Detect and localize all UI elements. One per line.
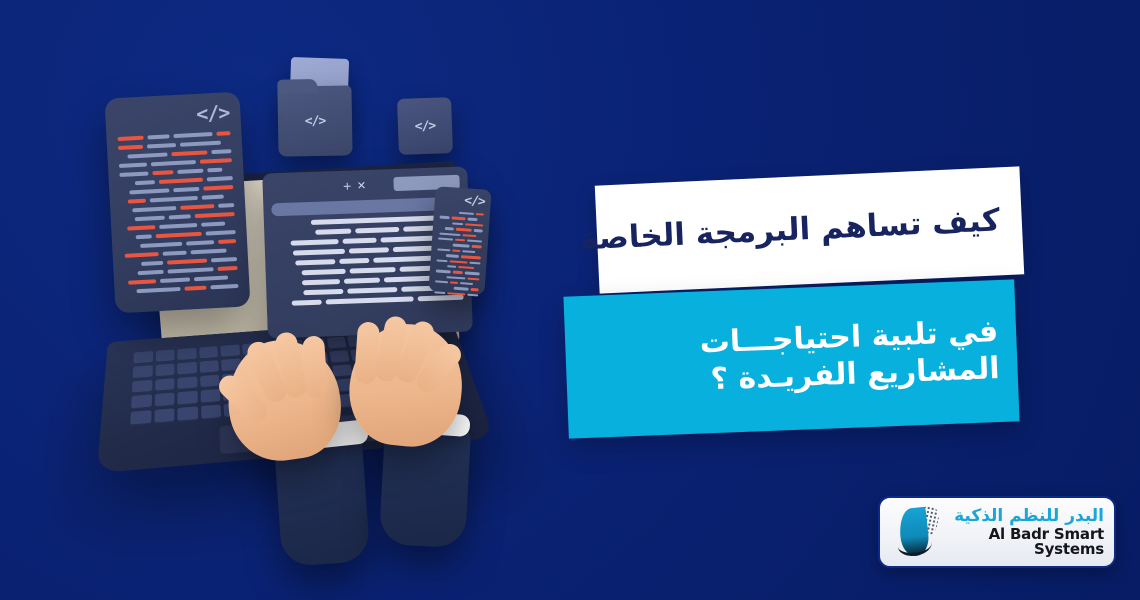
code-line <box>124 257 237 266</box>
code-segment <box>171 150 207 155</box>
key <box>199 346 218 359</box>
code-segment <box>439 232 460 236</box>
code-segment <box>449 260 467 264</box>
code-segment <box>128 199 146 203</box>
brand-logo[interactable]: البدر للنظم الذكية Al Badr Smart Systems <box>878 496 1116 568</box>
mini-code-card: </> <box>428 186 491 295</box>
code-segment <box>135 180 155 185</box>
brand-name-english: Al Badr Smart Systems <box>940 527 1104 557</box>
code-segment <box>169 214 191 219</box>
code-segment <box>460 282 473 285</box>
code-segment <box>129 188 169 194</box>
code-line <box>438 243 482 248</box>
code-tag-glyph: </> <box>116 102 230 128</box>
key <box>155 378 175 392</box>
code-segment <box>468 218 478 221</box>
code-segment <box>447 265 456 268</box>
code-line <box>125 275 238 284</box>
code-segment <box>159 223 197 228</box>
code-segment <box>453 244 470 248</box>
content-bar <box>418 295 464 302</box>
key <box>220 345 239 358</box>
close-icon[interactable]: ✕ <box>357 179 372 192</box>
code-line <box>121 194 234 203</box>
key <box>177 376 197 390</box>
finger <box>302 335 328 398</box>
code-tag-glyph: </> <box>440 193 485 209</box>
code-segment <box>206 230 236 235</box>
code-segment <box>119 171 148 176</box>
code-line <box>119 158 232 167</box>
code-segment <box>459 212 474 215</box>
key <box>155 363 174 377</box>
key <box>155 349 174 362</box>
content-bar <box>293 249 345 256</box>
code-segment <box>147 134 169 139</box>
code-line <box>119 167 232 176</box>
code-segment <box>160 277 190 282</box>
code-segment <box>471 288 479 291</box>
code-segment <box>461 255 481 259</box>
key <box>133 351 152 364</box>
key <box>199 360 219 374</box>
code-segment <box>150 196 198 202</box>
headline-line-1: كيف تساهم البرمجة الخاصة <box>579 204 1000 259</box>
content-bar <box>303 289 343 295</box>
content-bar <box>315 229 351 235</box>
code-segment <box>450 281 458 284</box>
content-bar <box>343 238 377 244</box>
code-line <box>122 212 235 221</box>
code-line <box>436 270 480 275</box>
code-line <box>125 266 238 275</box>
code-line <box>438 237 482 242</box>
key <box>177 362 196 376</box>
code-segment <box>173 132 213 138</box>
code-line <box>439 216 483 221</box>
key <box>154 393 174 408</box>
code-segment <box>453 249 460 252</box>
key <box>130 410 151 425</box>
code-segment <box>203 185 233 190</box>
code-segment <box>180 141 221 147</box>
code-segment <box>439 216 449 219</box>
code-badge-icon: </> <box>397 97 453 155</box>
code-segment <box>458 266 474 270</box>
code-segment <box>135 216 165 221</box>
content-bar <box>344 278 380 284</box>
code-segment <box>453 271 463 274</box>
brand-name-arabic: البدر للنظم الذكية <box>954 508 1104 525</box>
code-segment <box>217 266 237 271</box>
code-segment <box>132 206 176 212</box>
code-segment <box>177 169 203 174</box>
code-segment <box>211 149 231 154</box>
code-segment <box>437 248 451 251</box>
banner-canvas: </> </> </> ✕+ </> <box>0 0 1140 600</box>
code-segment <box>452 222 463 225</box>
code-segment <box>467 277 479 280</box>
code-segment <box>201 222 225 227</box>
code-line <box>440 211 484 216</box>
key <box>177 391 197 406</box>
content-bar <box>291 239 339 246</box>
search-input[interactable] <box>271 197 460 217</box>
code-line <box>120 185 233 194</box>
key <box>177 407 197 422</box>
code-segment <box>454 287 469 290</box>
code-segment <box>180 204 214 209</box>
code-segment <box>455 239 465 242</box>
emblem-calligraphy <box>898 533 932 556</box>
code-segment <box>153 170 174 175</box>
key <box>200 374 220 388</box>
code-segment <box>125 252 159 257</box>
code-segment <box>191 248 227 253</box>
code-snippet-card: </> <box>104 92 250 314</box>
key <box>329 350 350 363</box>
content-bar <box>339 258 369 264</box>
content-bar <box>349 247 389 253</box>
code-segment <box>127 152 167 158</box>
code-segment <box>118 136 144 141</box>
code-segment <box>167 259 207 265</box>
code-line <box>437 248 481 253</box>
code-line <box>121 203 234 212</box>
code-segment <box>217 131 231 135</box>
code-segment <box>474 229 483 232</box>
code-segment <box>127 225 155 230</box>
code-segment <box>140 242 182 248</box>
code-segment <box>462 234 476 237</box>
code-segment <box>476 213 484 216</box>
code-segment <box>119 163 147 168</box>
code-line <box>120 176 233 185</box>
code-line <box>123 230 236 239</box>
code-segment <box>210 284 238 289</box>
code-folder-icon: </> <box>277 85 352 156</box>
key <box>200 389 220 404</box>
key <box>133 365 153 379</box>
code-segment <box>184 286 206 291</box>
code-tag-glyph: </> <box>305 114 326 127</box>
content-bar <box>350 267 396 274</box>
code-segment <box>186 240 214 245</box>
code-segment <box>195 212 235 218</box>
key <box>177 348 196 361</box>
code-line <box>439 221 483 226</box>
code-line <box>436 264 480 269</box>
code-segment <box>436 259 447 262</box>
code-segment <box>435 280 448 283</box>
code-line <box>438 232 482 237</box>
code-segment <box>200 158 232 163</box>
code-segment <box>156 232 202 238</box>
code-segment <box>465 272 480 275</box>
code-segment <box>469 261 480 264</box>
key <box>154 408 174 423</box>
code-segment <box>128 279 156 284</box>
code-segment <box>167 267 213 273</box>
headline-band-secondary: في تلبية احتياجـــات المشاريع الفريـدة ؟ <box>563 279 1019 438</box>
code-segment <box>218 203 234 207</box>
code-segment <box>436 270 451 273</box>
key <box>132 380 152 394</box>
code-segment <box>173 187 199 192</box>
code-lines <box>117 131 238 293</box>
code-segment <box>467 239 482 242</box>
code-line <box>118 140 231 149</box>
code-segment <box>136 234 152 238</box>
code-line <box>435 280 479 285</box>
code-line <box>123 239 236 248</box>
code-line <box>439 227 483 232</box>
code-segment <box>207 168 223 172</box>
code-line <box>435 275 479 280</box>
brand-emblem-icon <box>894 504 940 560</box>
brand-logo-text: البدر للنظم الذكية Al Badr Smart Systems <box>940 508 1104 557</box>
content-bar <box>302 269 346 276</box>
code-segment <box>446 254 459 257</box>
code-line <box>117 131 230 140</box>
code-line <box>435 286 479 291</box>
code-segment <box>194 275 228 280</box>
headline-band-primary: كيف تساهم البرمجة الخاصة <box>595 166 1024 293</box>
code-tag-glyph: </> <box>415 119 436 133</box>
code-segment <box>465 223 483 227</box>
code-segment <box>456 228 472 232</box>
code-segment <box>472 245 482 248</box>
content-bar <box>302 279 340 285</box>
key <box>201 405 222 420</box>
code-segment <box>438 237 453 240</box>
code-line <box>436 259 480 264</box>
mini-code-lines <box>434 211 484 297</box>
key <box>131 395 152 410</box>
code-line <box>122 221 235 230</box>
code-line <box>437 254 481 259</box>
code-segment <box>211 257 237 262</box>
code-segment <box>159 178 203 184</box>
code-line <box>125 284 238 293</box>
code-line <box>118 149 231 158</box>
new-tab-icon[interactable]: + <box>342 179 357 192</box>
code-segment <box>462 250 476 253</box>
code-segment <box>136 287 180 293</box>
code-segment <box>141 261 163 266</box>
code-line <box>124 248 237 257</box>
code-segment <box>147 143 176 148</box>
code-segment <box>202 195 224 200</box>
code-segment <box>138 270 164 275</box>
code-segment <box>207 176 233 181</box>
content-bar <box>295 259 335 265</box>
code-segment <box>218 239 236 243</box>
code-segment <box>118 145 143 150</box>
content-bar <box>347 287 397 294</box>
hero-illustration: </> </> </> ✕+ </> <box>60 40 580 560</box>
code-segment <box>445 227 454 230</box>
code-segment <box>151 160 196 166</box>
key <box>326 336 347 349</box>
code-segment <box>446 276 465 280</box>
content-row <box>275 295 464 307</box>
content-bar <box>355 227 399 234</box>
content-bar <box>326 296 414 304</box>
code-segment <box>451 217 466 220</box>
browser-controls[interactable]: ✕+ <box>342 179 371 193</box>
content-bar <box>292 300 322 306</box>
code-segment <box>163 251 187 256</box>
